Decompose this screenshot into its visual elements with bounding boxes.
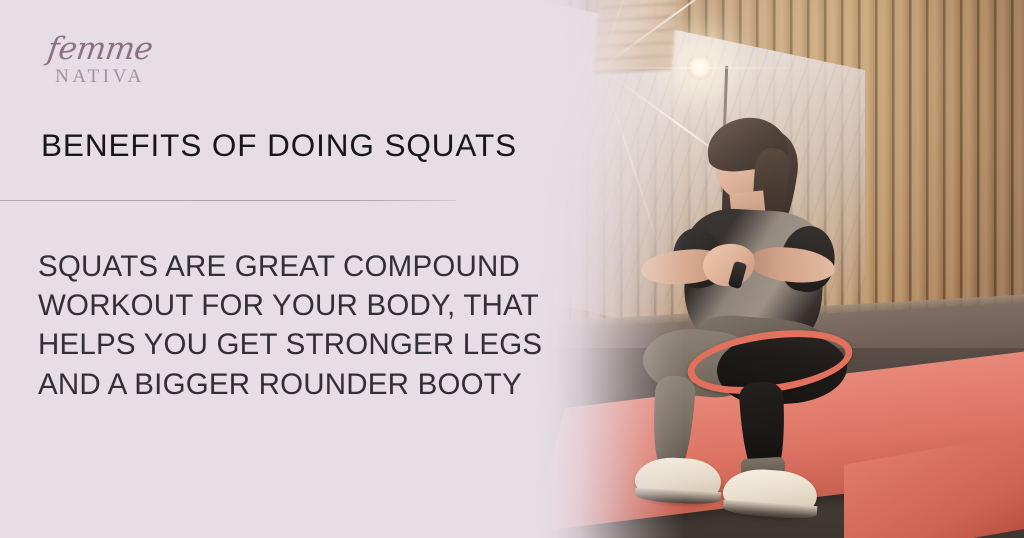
body-line-1: SQUATS ARE GREAT COMPOUND	[38, 247, 558, 286]
body-copy: SQUATS ARE GREAT COMPOUND WORKOUT FOR YO…	[38, 247, 558, 404]
title-divider	[0, 200, 456, 201]
graphic-canvas: femme NATIVA BENEFITS OF DOING SQUATS SQ…	[0, 0, 1024, 538]
woman-figure	[535, 0, 1024, 538]
squat-photo	[535, 0, 1024, 538]
brand-logo-script: femme	[38, 34, 162, 65]
brand-logo-word: NATIVA	[40, 67, 160, 86]
text-panel: femme NATIVA BENEFITS OF DOING SQUATS SQ…	[0, 0, 560, 538]
body-line-4: AND A BIGGER ROUNDER BOOTY	[38, 365, 558, 404]
page-title: BENEFITS OF DOING SQUATS	[41, 128, 521, 163]
body-line-2: WORKOUT FOR YOUR BODY, THAT	[38, 286, 558, 325]
body-line-3: HELPS YOU GET STRONGER LEGS	[38, 325, 558, 364]
brand-logo: femme NATIVA	[40, 34, 160, 86]
